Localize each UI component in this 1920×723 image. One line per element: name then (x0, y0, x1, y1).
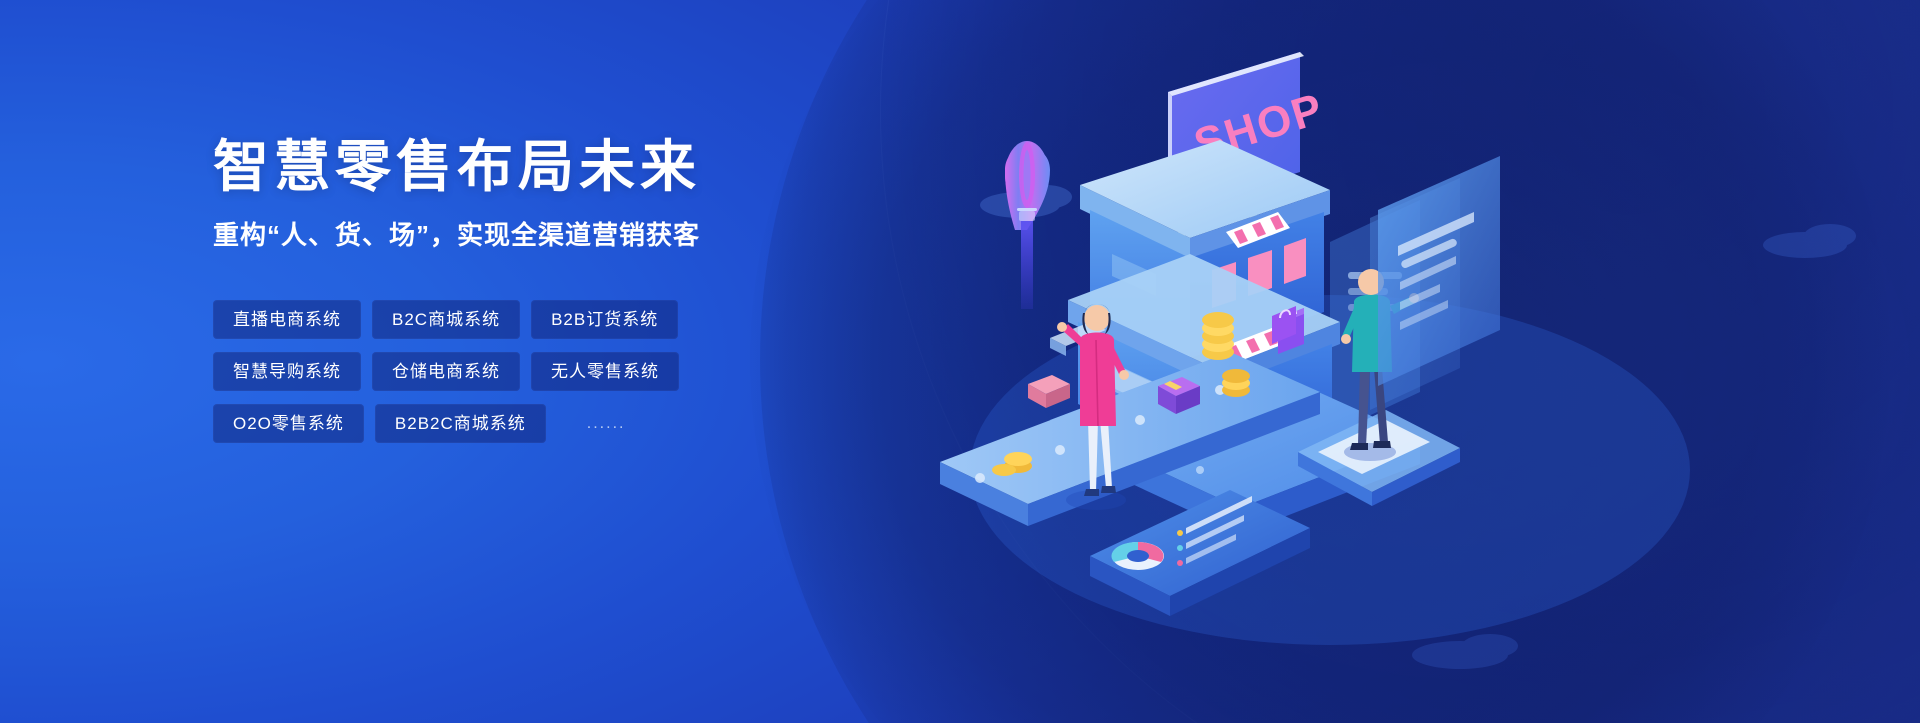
tag-row: O2O零售系统 B2B2C商城系统 ...... (213, 404, 853, 443)
coin-stack (1222, 369, 1250, 397)
cloud-icon (1763, 224, 1856, 258)
banner-title: 智慧零售布局未来 (213, 139, 701, 195)
cloud-icon (1412, 634, 1518, 669)
tag-warehouse-ecommerce[interactable]: 仓储电商系统 (372, 352, 520, 391)
banner-subtitle: 重构“人、货、场”，实现全渠道营销获客 (213, 222, 700, 248)
smart-retail-banner: 智慧零售布局未来 重构“人、货、场”，实现全渠道营销获客 直播电商系统 B2C商… (0, 0, 1920, 723)
banner-content: 智慧零售布局未来 重构“人、货、场”，实现全渠道营销获客 直播电商系统 B2C商… (213, 0, 913, 723)
tag-b2c-mall[interactable]: B2C商城系统 (372, 300, 520, 339)
tag-o2o-retail[interactable]: O2O零售系统 (213, 404, 364, 443)
more-indicator: ...... (579, 415, 634, 433)
isometric-retail-illustration: SHOP (900, 0, 1920, 723)
hot-air-balloon-icon (1005, 141, 1050, 309)
tag-live-ecommerce[interactable]: 直播电商系统 (213, 300, 361, 339)
tag-row: 智慧导购系统 仓储电商系统 无人零售系统 (213, 352, 853, 391)
tag-row: 直播电商系统 B2C商城系统 B2B订货系统 (213, 300, 853, 339)
system-tag-list: 直播电商系统 B2C商城系统 B2B订货系统 智慧导购系统 仓储电商系统 无人零… (213, 300, 853, 456)
coin-stack (1202, 312, 1234, 360)
tag-unmanned-retail[interactable]: 无人零售系统 (531, 352, 679, 391)
tag-smart-guide[interactable]: 智慧导购系统 (213, 352, 361, 391)
tag-b2b2c-mall[interactable]: B2B2C商城系统 (375, 404, 546, 443)
tag-b2b-ordering[interactable]: B2B订货系统 (531, 300, 678, 339)
